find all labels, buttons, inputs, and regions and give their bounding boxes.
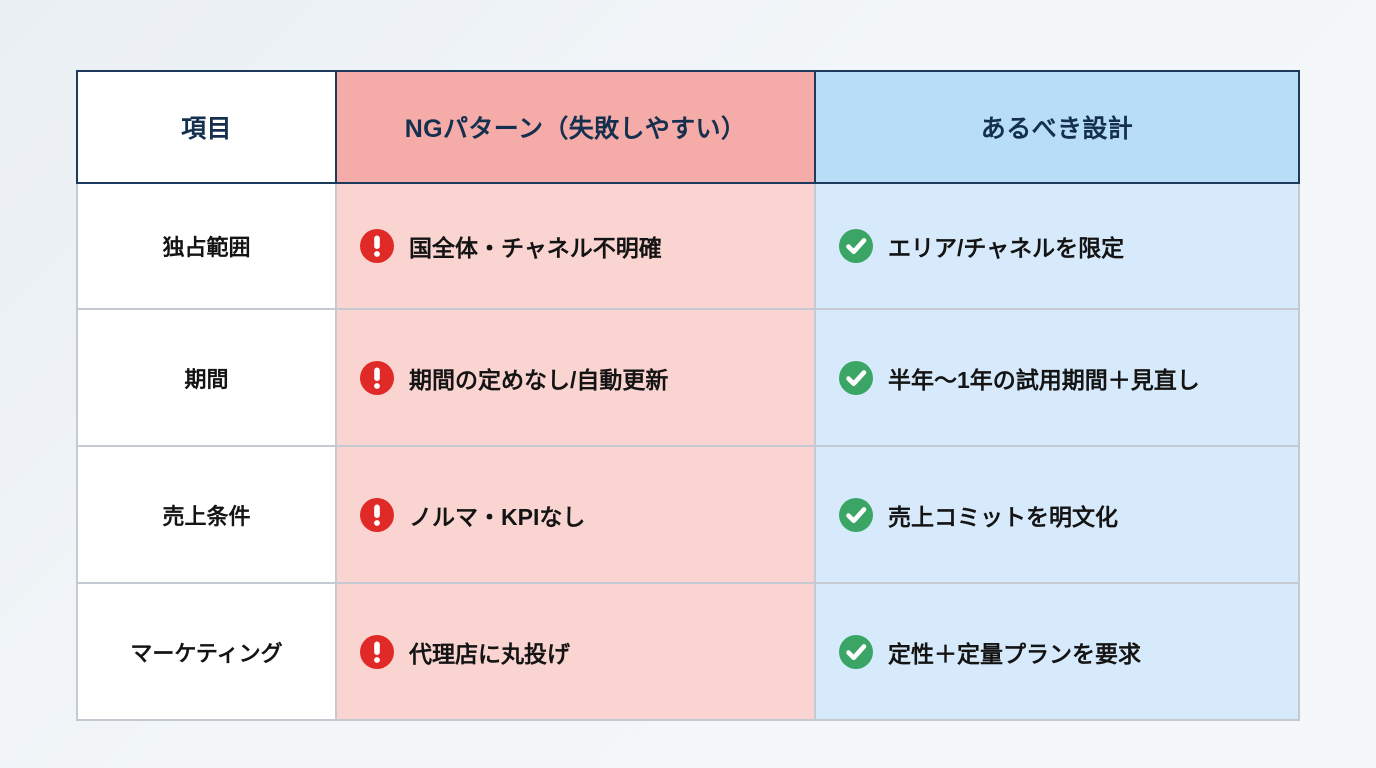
slide-canvas: 項目 NGパターン（失敗しやすい） あるべき設計 独占範囲 — [0, 0, 1376, 768]
row-good-cell: 半年〜1年の試用期間＋見直し — [816, 310, 1300, 447]
row-good-cell: 売上コミットを明文化 — [816, 447, 1300, 584]
exclamation-circle-icon — [359, 634, 395, 670]
row-item-cell: 売上条件 — [76, 447, 337, 584]
row-item-label: 売上条件 — [78, 499, 335, 531]
check-circle-icon — [838, 497, 874, 533]
table-body: 独占範囲 国全体・チャネル不明確 — [76, 184, 1300, 721]
row-item-label: 独占範囲 — [78, 230, 335, 262]
exclamation-circle-icon — [359, 360, 395, 396]
check-circle-icon — [838, 228, 874, 264]
row-ng-text: 国全体・チャネル不明確 — [409, 229, 662, 263]
column-header-ideal-design: あるべき設計 — [816, 70, 1300, 184]
row-ng-text: ノルマ・KPIなし — [409, 498, 585, 532]
row-item-label: 期間 — [78, 362, 335, 394]
table-header: 項目 NGパターン（失敗しやすい） あるべき設計 — [76, 70, 1300, 184]
row-good-text: エリア/チャネルを限定 — [888, 229, 1124, 263]
row-ng-cell: 代理店に丸投げ — [337, 584, 816, 721]
table-row: 売上条件 ノルマ・KPIなし — [76, 447, 1300, 584]
table-header-row: 項目 NGパターン（失敗しやすい） あるべき設計 — [76, 70, 1300, 184]
table-row: 独占範囲 国全体・チャネル不明確 — [76, 184, 1300, 310]
row-ng-cell: 国全体・チャネル不明確 — [337, 184, 816, 310]
comparison-table: 項目 NGパターン（失敗しやすい） あるべき設計 独占範囲 — [76, 70, 1300, 721]
row-good-cell: 定性＋定量プランを要求 — [816, 584, 1300, 721]
row-ng-cell: ノルマ・KPIなし — [337, 447, 816, 584]
column-header-item: 項目 — [76, 70, 337, 184]
check-circle-icon — [838, 360, 874, 396]
exclamation-circle-icon — [359, 228, 395, 264]
row-ng-text: 代理店に丸投げ — [409, 635, 570, 669]
check-circle-icon — [838, 634, 874, 670]
row-good-cell: エリア/チャネルを限定 — [816, 184, 1300, 310]
table-row: 期間 期間の定めなし/自動更新 — [76, 310, 1300, 447]
row-ng-cell: 期間の定めなし/自動更新 — [337, 310, 816, 447]
row-item-cell: 期間 — [76, 310, 337, 447]
table-row: マーケティング 代理店に丸投げ — [76, 584, 1300, 721]
row-item-label: マーケティング — [78, 636, 335, 668]
exclamation-circle-icon — [359, 497, 395, 533]
row-ng-text: 期間の定めなし/自動更新 — [409, 361, 668, 395]
row-good-text: 売上コミットを明文化 — [888, 498, 1118, 532]
row-item-cell: マーケティング — [76, 584, 337, 721]
column-header-ng-pattern: NGパターン（失敗しやすい） — [337, 70, 816, 184]
row-item-cell: 独占範囲 — [76, 184, 337, 310]
row-good-text: 定性＋定量プランを要求 — [888, 635, 1141, 669]
row-good-text: 半年〜1年の試用期間＋見直し — [888, 361, 1200, 395]
